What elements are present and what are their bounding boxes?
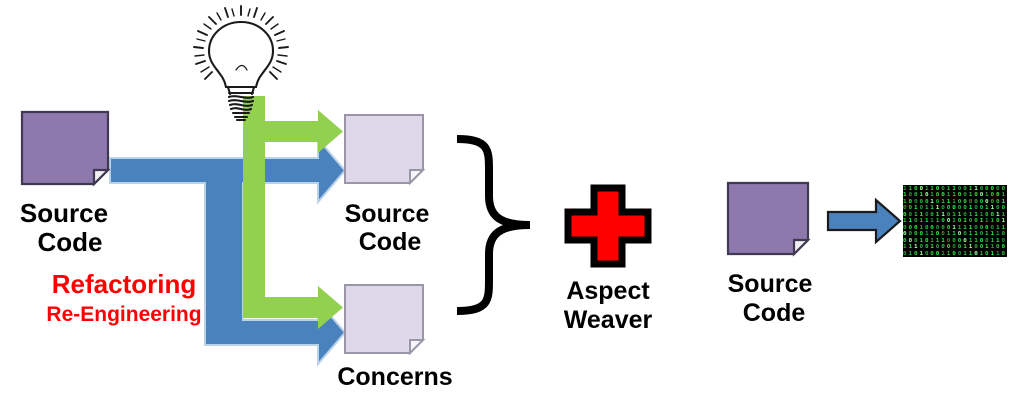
document-purple-source-code-woven: [728, 183, 808, 254]
binary-matrix-canvas: [903, 185, 1007, 257]
label-source-code-output-line1: Source: [345, 200, 430, 228]
document-purple-source-code-input: [22, 112, 108, 184]
lightbulb-sketch-icon: [194, 6, 288, 120]
cross-plus-red-icon: [568, 188, 648, 264]
label-source-code-woven-line1: Source: [728, 270, 813, 298]
document-light-concerns: [345, 285, 423, 353]
label-concerns: Concerns: [337, 363, 452, 391]
label-aspect-weaver-line2: Weaver: [564, 306, 653, 334]
annotation-re-engineering: Re-Engineering: [46, 303, 201, 327]
label-source-code-woven-line2: Code: [743, 299, 806, 327]
binary-matrix-image: [903, 185, 1007, 257]
annotation-refactoring: Refactoring: [52, 270, 196, 299]
diagram-vector-layer: [0, 0, 1028, 420]
label-source-code-input-line1: Source: [20, 199, 108, 228]
idea-green-split-arrow: [243, 96, 343, 329]
grouping-brace: [457, 139, 530, 311]
document-light-source-code-output: [345, 115, 423, 183]
label-source-code-input-line2: Code: [38, 228, 103, 257]
label-source-code-output-line2: Code: [359, 228, 422, 256]
label-aspect-weaver-line1: Aspect: [566, 277, 649, 305]
refactoring-blue-split-arrow: [110, 139, 345, 364]
diagram-canvas: Source Code Refactoring Re-Engineering S…: [0, 0, 1028, 420]
compile-blue-arrow: [828, 200, 900, 242]
